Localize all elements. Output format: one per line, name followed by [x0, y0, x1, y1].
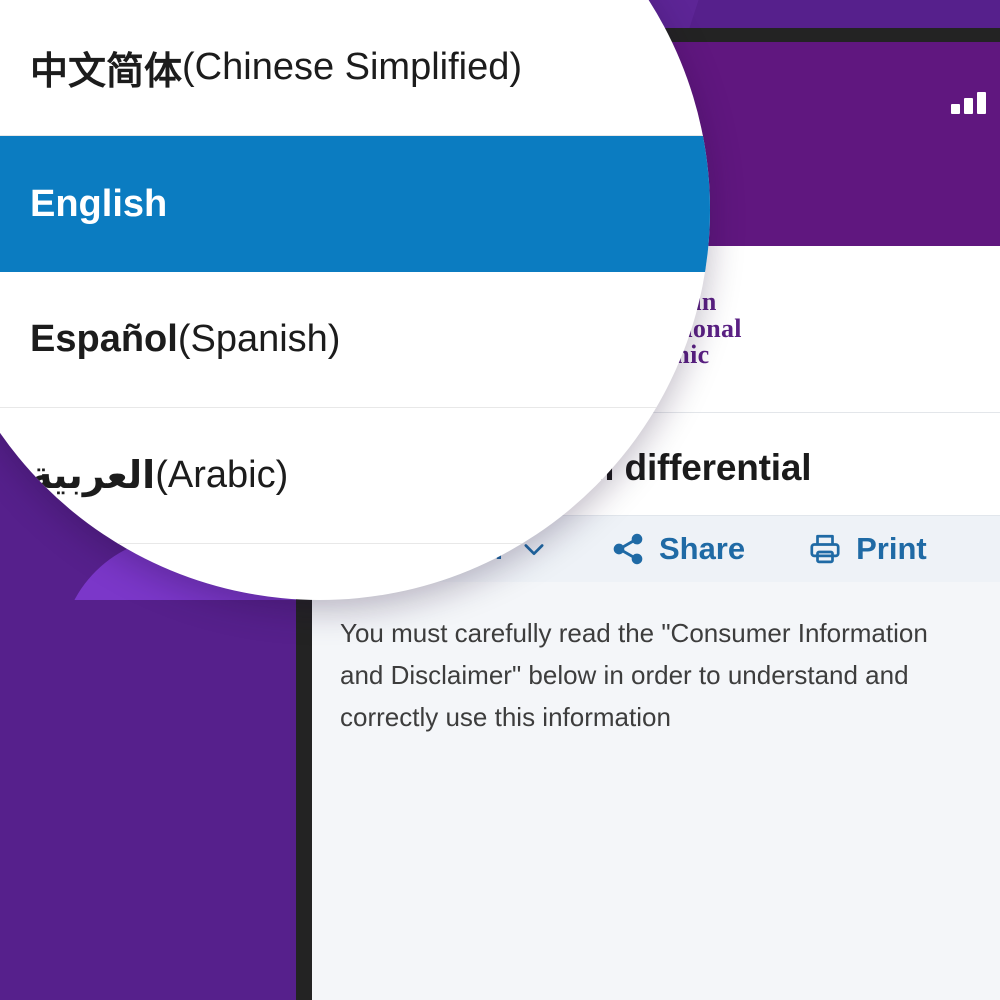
- signal-bars-icon: [951, 88, 986, 114]
- disclaimer-line-2: and Disclaimer" below in order to unders…: [340, 654, 1000, 696]
- language-english-name: (Chinese Simplified): [182, 46, 522, 89]
- language-option-chinese-simplified[interactable]: 中文简体 (Chinese Simplified): [0, 0, 710, 136]
- language-native-name: Español: [30, 318, 178, 361]
- language-english-name: (Arabic): [155, 454, 288, 497]
- language-option-english[interactable]: English: [0, 136, 710, 272]
- language-native-name: العربية: [30, 453, 155, 498]
- print-label: Print: [856, 531, 927, 567]
- printer-icon: [807, 531, 843, 567]
- language-english-name: (Spanish): [178, 318, 341, 361]
- language-dropdown-menu: 中文简体 (Chinese Simplified) English Españo…: [0, 0, 710, 600]
- language-option-spanish[interactable]: Español (Spanish): [0, 272, 710, 408]
- language-native-name: 中文简体: [30, 40, 182, 95]
- language-native-name: English: [30, 183, 167, 226]
- print-button[interactable]: Print: [807, 531, 927, 567]
- magnifier-lens: 中文简体 (Chinese Simplified) English Españo…: [0, 0, 710, 600]
- language-option-arabic[interactable]: العربية (Arabic): [0, 408, 710, 544]
- disclaimer-line-1: You must carefully read the "Consumer In…: [340, 612, 1000, 654]
- disclaimer-line-3: correctly use this information: [340, 696, 1000, 738]
- disclaimer-text: You must carefully read the "Consumer In…: [312, 582, 1000, 738]
